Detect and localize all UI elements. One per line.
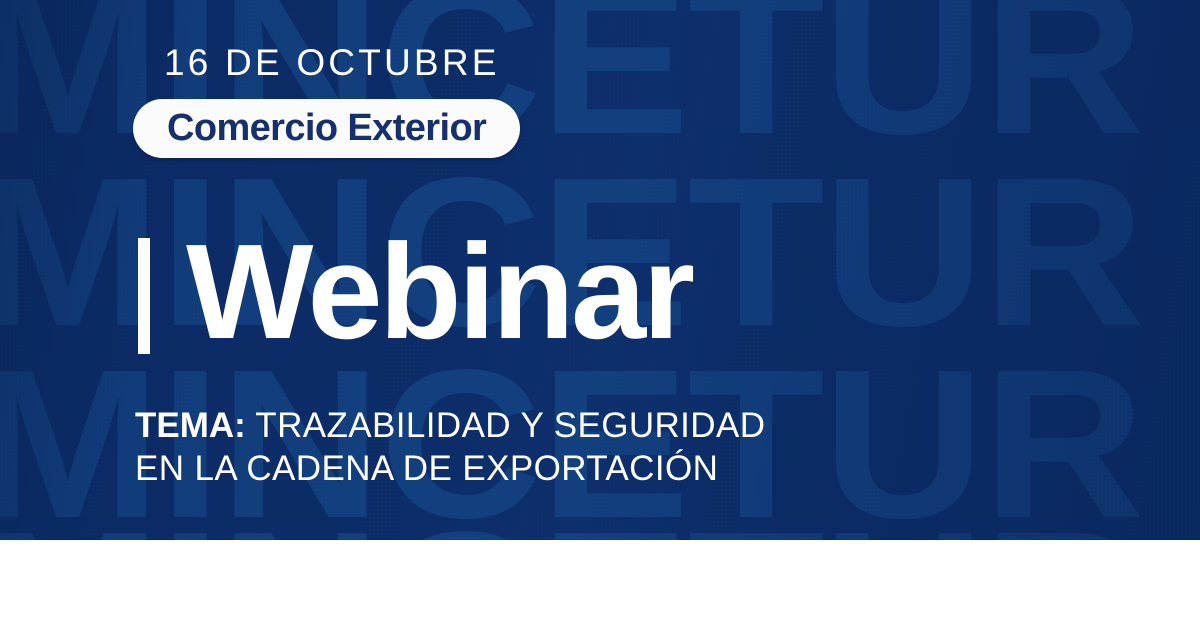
topic-line-1-text: TRAZABILIDAD Y SEGURIDAD [246,406,766,445]
page-title: Webinar [138,228,692,363]
webinar-banner: MINCETUR MINCETUR MINCETUR MINCETUR MINC… [0,0,1200,628]
event-date: 16 DE OCTUBRE [164,42,500,84]
topic-label: TEMA: [135,406,246,445]
topic-block: TEMA: TRAZABILIDAD Y SEGURIDAD EN LA CAD… [135,404,765,491]
banner-content: 16 DE OCTUBRE Comercio Exterior Webinar … [0,0,1200,540]
category-pill: Comercio Exterior [133,99,520,158]
title-text: Webinar [186,224,692,359]
topic-line-1: TEMA: TRAZABILIDAD Y SEGURIDAD [135,404,765,447]
footer-bar: Gobierno del Perú REPÚBLICA DEL PERÚ [0,540,1200,628]
category-pill-label: Comercio Exterior [167,107,486,150]
title-accent-bar [138,238,150,354]
topic-line-2: EN LA CADENA DE EXPORTACIÓN [135,447,765,490]
